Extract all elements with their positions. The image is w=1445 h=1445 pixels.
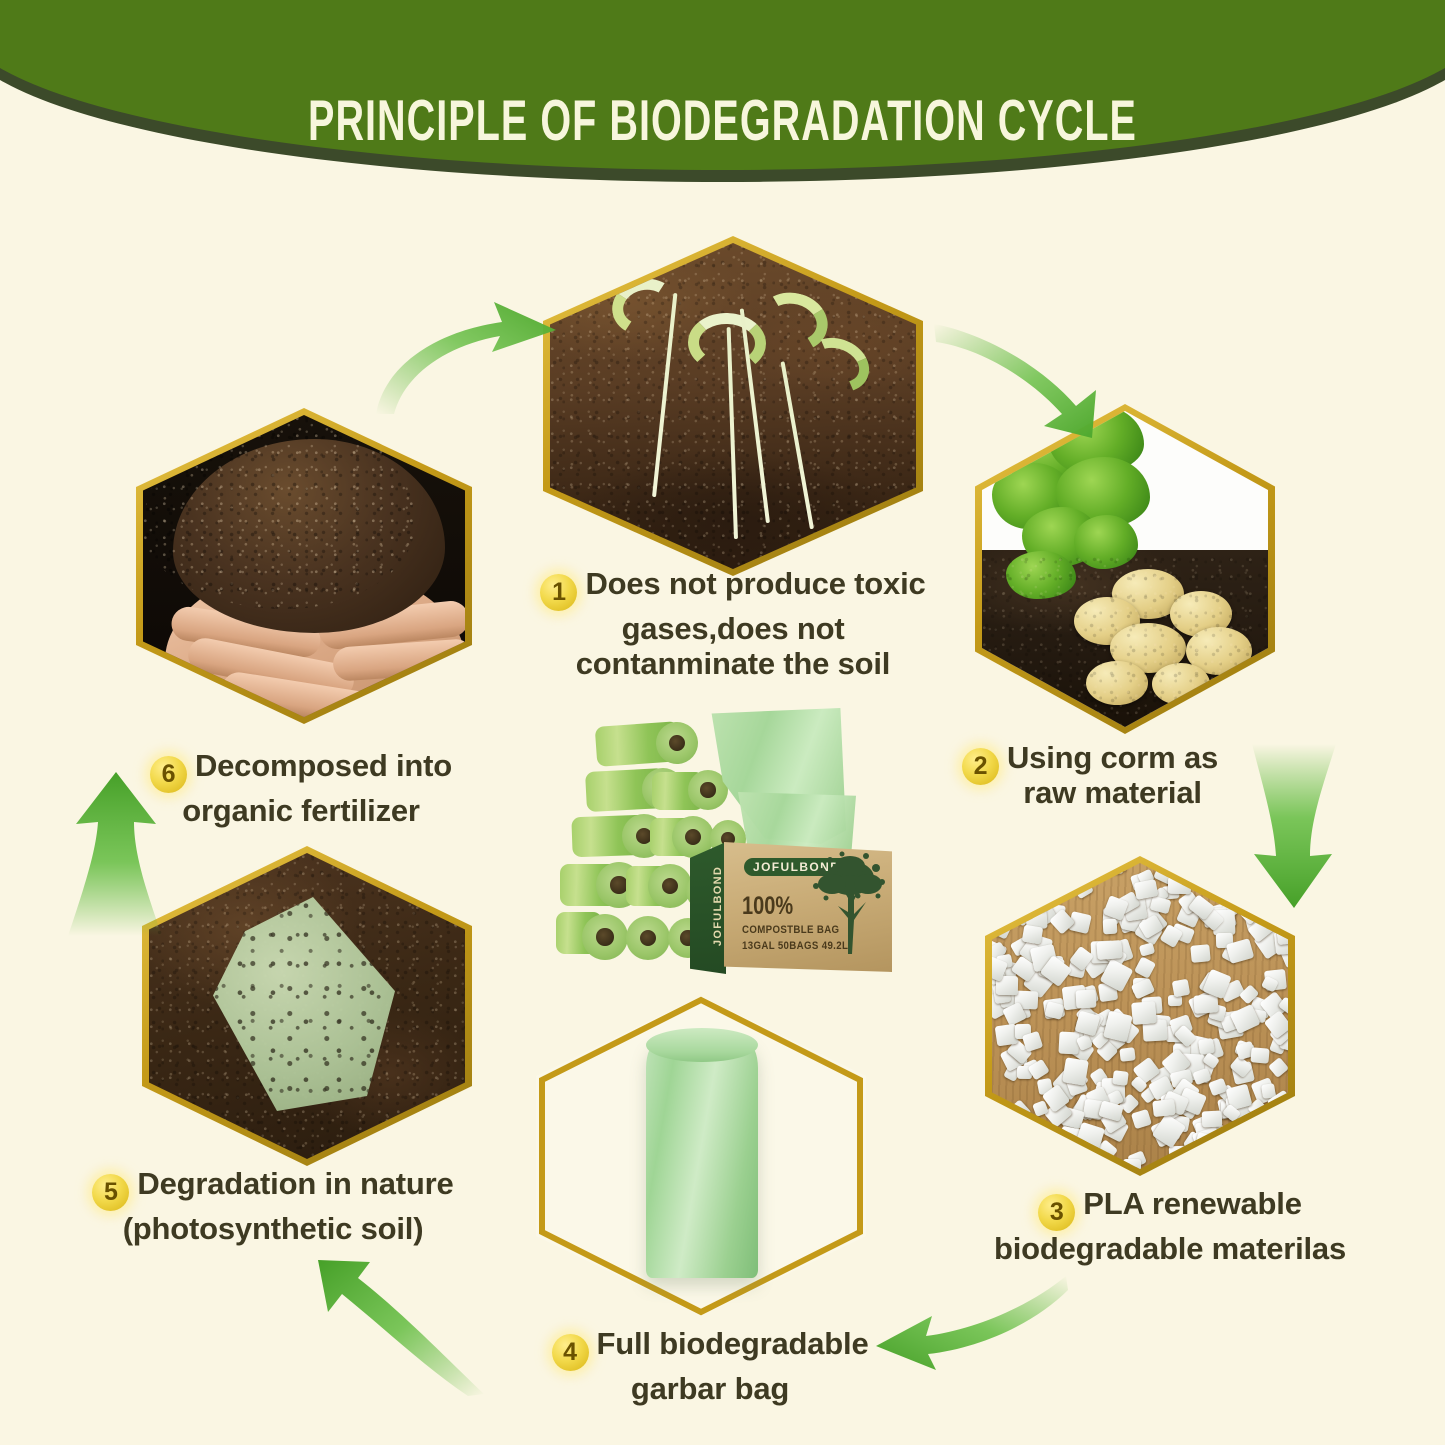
pla-pellet [992, 1094, 1003, 1115]
step-badge-5: 5 [92, 1174, 129, 1211]
pla-pellet [1075, 1143, 1098, 1165]
hexagon-step-2-image [982, 411, 1268, 727]
step-badge-2: 2 [962, 748, 999, 785]
hexagon-step-6[interactable] [136, 408, 472, 724]
pla-pellet [1260, 1120, 1288, 1153]
pla-pellet [1041, 1163, 1058, 1169]
pla-pellet [1259, 1155, 1279, 1169]
pla-pellet [1198, 1038, 1215, 1056]
pla-pellet [1112, 1071, 1128, 1087]
arrow-one-to-two [930, 320, 1120, 440]
arrow-five-to-six [62, 768, 172, 938]
hexagon-step-1[interactable] [543, 236, 923, 576]
pla-pellet [1276, 1139, 1288, 1164]
pla-pellet [1058, 1031, 1079, 1054]
pla-pellet [1256, 1145, 1278, 1169]
pla-pellet [1016, 1163, 1036, 1169]
pla-pellet [1119, 1047, 1136, 1062]
pla-pellet [1274, 1144, 1288, 1169]
hexagon-step-5-image [149, 853, 465, 1159]
pla-pellet [1172, 979, 1191, 997]
pla-pellet [1074, 880, 1094, 899]
header-banner: PRINCIPLE OF BIODEGRADATION CYCLE [0, 0, 1445, 185]
pla-pellet [992, 1126, 1008, 1150]
infographic-canvas: PRINCIPLE OF BIODEGRADATION CYCLE [0, 0, 1445, 1445]
pla-pellet [1190, 945, 1211, 964]
pla-pellet [1097, 940, 1123, 960]
pla-pellet [1201, 1111, 1221, 1128]
seedlings-in-soil-photo [550, 243, 916, 569]
pla-pellet [1076, 990, 1097, 1009]
pla-pellet [1214, 1160, 1238, 1169]
pla-pellet [1049, 1144, 1076, 1168]
pla-pellet [1050, 884, 1068, 902]
pla-pellet [1215, 1129, 1237, 1150]
hexagon-step-6-image [143, 415, 465, 717]
caption-step-5-text: Degradation in nature (photosynthetic so… [123, 1166, 454, 1246]
pla-pellet [1020, 863, 1042, 877]
pla-pellet [1194, 1132, 1218, 1156]
pla-pellet [1253, 1142, 1277, 1167]
pla-pellet [992, 911, 1014, 939]
pla-pellet [1196, 863, 1226, 882]
caption-step-4: 4Full biodegradable garbar bag [500, 1326, 920, 1406]
pla-pellet [997, 863, 1014, 877]
pla-pellet [1103, 919, 1117, 935]
arrow-three-to-four [870, 1272, 1070, 1382]
pla-pellet [1185, 863, 1207, 883]
pla-pellet [1250, 1047, 1270, 1064]
pla-pellet [1002, 1100, 1032, 1130]
caption-step-6-text: Decomposed into organic fertilizer [182, 748, 452, 828]
pla-pellet [1047, 873, 1066, 892]
caption-step-2-text: Using corm as raw material [1007, 740, 1218, 810]
pla-pellet [1041, 875, 1055, 886]
pla-pellet [1169, 1146, 1190, 1163]
pla-pellet [1063, 1058, 1090, 1086]
caption-step-3: 3PLA renewable biodegradable materilas [960, 1186, 1380, 1266]
pla-pellet [992, 881, 1009, 898]
pla-pellet [994, 1142, 1017, 1166]
pla-pellet [1024, 1117, 1049, 1141]
product-box-side-brand: JOFULBOND [712, 866, 724, 946]
pla-pellet [1123, 1159, 1141, 1169]
caption-step-1-text: Does not produce toxic gases,does not co… [576, 566, 926, 681]
pla-pellet [1090, 864, 1106, 879]
pla-pellet [1214, 1164, 1234, 1169]
pla-pellet [1028, 1127, 1046, 1144]
pla-pellet [1107, 863, 1127, 871]
pla-pellet [1262, 1105, 1284, 1127]
pla-pellet [999, 1133, 1021, 1153]
hexagon-step-2[interactable] [975, 404, 1275, 734]
green-bag-roll-photo [536, 996, 866, 1316]
pla-pellet [1131, 1109, 1152, 1130]
hands-holding-compost-photo [143, 415, 465, 717]
pla-pellet [1021, 924, 1042, 944]
hexagon-step-5[interactable] [142, 846, 472, 1166]
pla-pellet [1198, 1152, 1220, 1169]
pla-pellet [1193, 994, 1218, 1014]
pla-pellet [1049, 875, 1066, 892]
step-badge-4: 4 [552, 1334, 589, 1371]
compostable-bag-product-photo: JOFULBOND JOFULBOND 100% COMPOSTBLE BAG … [560, 700, 920, 1000]
pla-pellet [1088, 863, 1110, 878]
pla-pellet [1043, 1146, 1073, 1169]
caption-step-1: 1Does not produce toxic gases,does not c… [508, 566, 958, 681]
tree-icon [808, 848, 894, 960]
pla-pellet [1030, 864, 1047, 880]
pla-pellet [1055, 868, 1080, 893]
arrow-two-to-three [1244, 742, 1344, 912]
pla-pellet [1276, 922, 1288, 945]
pla-pellet [1131, 1001, 1157, 1025]
pla-pellet [1185, 1146, 1208, 1169]
pla-pellet [999, 886, 1027, 912]
arrow-four-to-five [300, 1258, 490, 1398]
arrow-six-to-one [370, 296, 570, 416]
caption-step-5: 5Degradation in nature (photosynthetic s… [58, 1166, 488, 1246]
pla-pellet [1168, 877, 1192, 895]
hexagon-step-1-image [550, 243, 916, 569]
degrading-bag-in-soil-photo [149, 853, 465, 1159]
pla-pellet [1062, 1162, 1090, 1169]
pla-pellet [1238, 1117, 1252, 1128]
product-box-percent: 100% [742, 892, 793, 921]
pla-pellet [1153, 1099, 1176, 1117]
page-title: PRINCIPLE OF BIODEGRADATION CYCLE [101, 86, 1344, 154]
step-badge-3: 3 [1038, 1194, 1075, 1231]
pla-pellet [992, 876, 1005, 898]
caption-step-4-text: Full biodegradable garbar bag [597, 1326, 869, 1406]
pla-pellet [1134, 956, 1156, 979]
pla-pellet [1238, 1161, 1272, 1169]
pla-pellet [1042, 1154, 1068, 1169]
step-badge-1: 1 [540, 574, 577, 611]
potato-plant-in-soil-photo [982, 411, 1268, 727]
pla-pellet [1106, 863, 1124, 875]
pla-pellet [1243, 1136, 1267, 1160]
pla-pellet [1268, 1057, 1288, 1078]
pla-pellet [1279, 1109, 1288, 1144]
